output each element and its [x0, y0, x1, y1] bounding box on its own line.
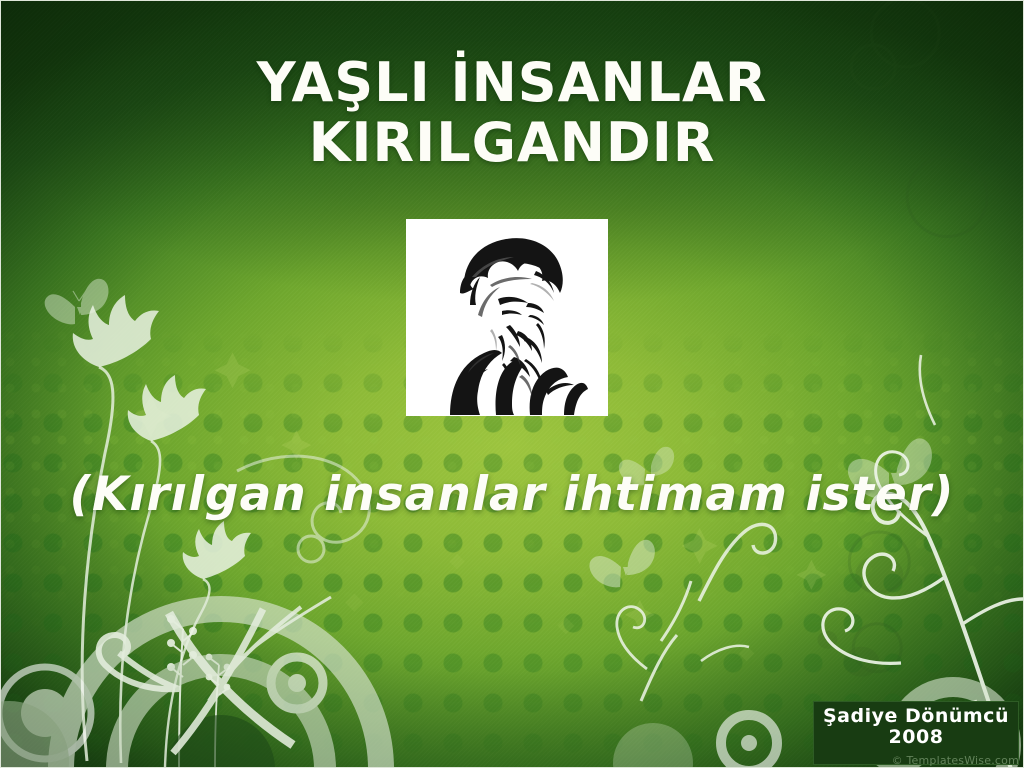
slide-subtitle: (Kırılgan insanlar ihtimam ister) [1, 467, 1023, 522]
author-name: Şadiye Dönümcü [814, 706, 1018, 727]
portrait-image-panel [406, 219, 608, 416]
author-year: 2008 [814, 727, 1018, 748]
slide-title: YAŞLI İNSANLAR KIRILGANDIR [1, 53, 1023, 174]
presentation-slide: YAŞLI İNSANLAR KIRILGANDIR [0, 0, 1024, 768]
template-watermark: © TemplatesWise.com [892, 754, 1019, 767]
elderly-person-portrait-icon [406, 219, 608, 416]
